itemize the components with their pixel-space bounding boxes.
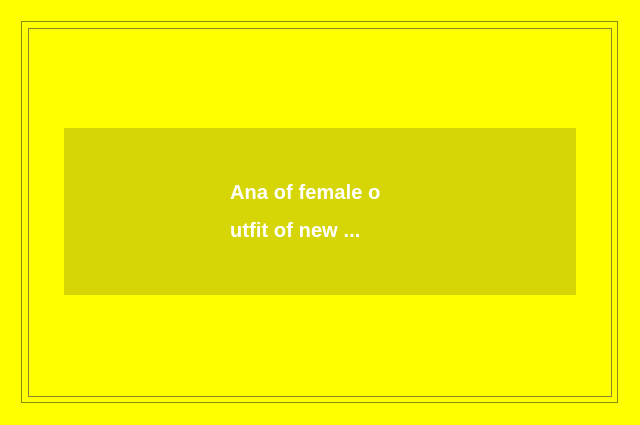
caption-panel: Ana of female o utfit of new ... xyxy=(64,128,576,295)
caption-line-2: utfit of new ... xyxy=(64,212,576,250)
page-canvas: Ana of female o utfit of new ... xyxy=(0,0,640,425)
caption-line-1: Ana of female o xyxy=(64,174,576,212)
